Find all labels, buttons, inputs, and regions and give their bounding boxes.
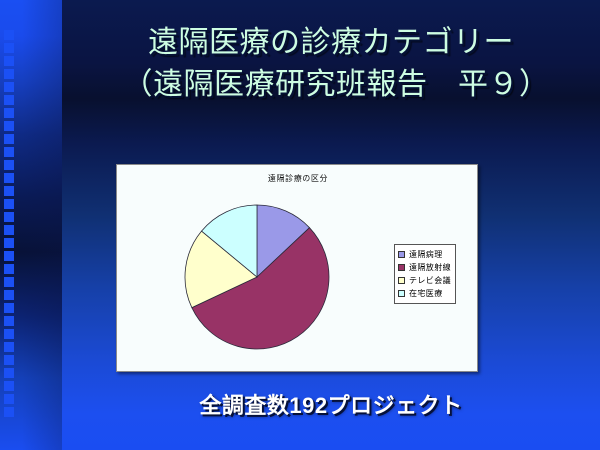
band-square [4, 290, 14, 300]
chart-title: 遠隔診療の区分 [117, 173, 479, 184]
band-square [4, 342, 14, 352]
pie-slice-group [185, 205, 329, 349]
band-square [4, 303, 14, 313]
band-square [4, 329, 14, 339]
band-shadow-overlay [22, 0, 62, 450]
band-square [4, 212, 14, 222]
legend-item: 遠隔放射線 [398, 261, 451, 274]
band-square [4, 316, 14, 326]
legend-item-label: 在宅医療 [409, 288, 443, 299]
band-square [4, 121, 14, 131]
band-square [4, 147, 14, 157]
band-square [4, 277, 14, 287]
band-square [4, 134, 14, 144]
legend-item-label: 遠隔病理 [409, 249, 443, 260]
band-square [4, 251, 14, 261]
page-title-line-2: （遠隔医療研究班報告 平９） [62, 64, 600, 106]
legend-swatch-icon [398, 251, 405, 258]
slide-canvas: 遠隔医療の診療カテゴリー （遠隔医療研究班報告 平９） 遠隔診療の区分 遠隔病理… [0, 0, 600, 450]
legend-item-label: 遠隔放射線 [409, 262, 451, 273]
band-square [4, 186, 14, 196]
slide-caption: 全調査数192プロジェクト [62, 388, 600, 420]
band-square [4, 238, 14, 248]
page-title-line-1: 遠隔医療の診療カテゴリー [62, 22, 600, 64]
legend-swatch-icon [398, 290, 405, 297]
band-square [4, 355, 14, 365]
band-square [4, 407, 14, 417]
legend-item: 在宅医療 [398, 287, 451, 300]
pie-svg [179, 199, 335, 355]
band-square [4, 173, 14, 183]
legend-swatch-icon [398, 264, 405, 271]
band-square [4, 82, 14, 92]
band-square [4, 30, 14, 40]
pie-chart-panel: 遠隔診療の区分 遠隔病理遠隔放射線テレビ会議在宅医療 [116, 164, 478, 372]
band-square [4, 95, 14, 105]
band-square [4, 199, 14, 209]
band-square [4, 264, 14, 274]
band-square [4, 225, 14, 235]
legend-swatch-icon [398, 277, 405, 284]
slide-title-block: 遠隔医療の診療カテゴリー （遠隔医療研究班報告 平９） [62, 22, 600, 106]
band-square [4, 394, 14, 404]
band-square [4, 108, 14, 118]
band-square [4, 56, 14, 66]
band-square [4, 381, 14, 391]
decorative-left-band [0, 0, 62, 450]
legend-item: テレビ会議 [398, 274, 451, 287]
pie-chart-graphic [179, 199, 335, 355]
chart-legend: 遠隔病理遠隔放射線テレビ会議在宅医療 [394, 244, 456, 304]
band-square [4, 160, 14, 170]
band-square [4, 43, 14, 53]
band-square [4, 69, 14, 79]
legend-item-label: テレビ会議 [409, 275, 451, 286]
band-square [4, 368, 14, 378]
legend-item: 遠隔病理 [398, 248, 451, 261]
